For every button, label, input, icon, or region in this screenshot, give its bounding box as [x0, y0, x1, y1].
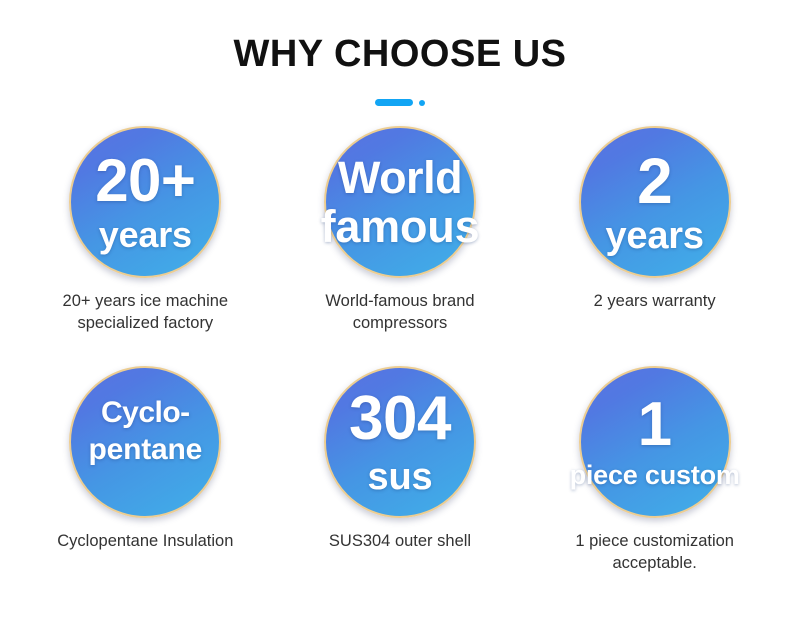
section-header: WHY CHOOSE US	[0, 0, 800, 108]
badge-line2: years	[38, 217, 253, 253]
feature-badge-2: World famous	[324, 126, 476, 278]
feature-item-4: Cyclo- pentane Cyclopentane Insulation	[18, 366, 273, 606]
feature-item-5: 304 sus SUS304 outer shell	[273, 366, 528, 606]
badge-text-1: 20+ years	[38, 151, 253, 253]
feature-item-3: 2 years 2 years warranty	[527, 126, 782, 366]
feature-badge-5: 304 sus	[324, 366, 476, 518]
badge-line1: 2	[547, 149, 762, 213]
page-title: WHY CHOOSE US	[0, 34, 800, 76]
feature-caption-2: World-famous brand compressors	[285, 290, 515, 335]
feature-badge-4: Cyclo- pentane	[69, 366, 221, 518]
feature-grid: 20+ years 20+ years ice machine speciali…	[0, 126, 800, 606]
badge-line2: piece custom	[547, 462, 762, 489]
feature-badge-3: 2 years	[579, 126, 731, 278]
badge-text-2: World famous	[292, 155, 507, 249]
feature-item-6: 1 piece custom 1 piece customization acc…	[527, 366, 782, 606]
badge-text-5: 304 sus	[292, 388, 507, 496]
feature-item-1: 20+ years 20+ years ice machine speciali…	[18, 126, 273, 366]
feature-caption-6: 1 piece customization acceptable.	[540, 530, 770, 575]
feature-item-2: World famous World-famous brand compress…	[273, 126, 528, 366]
feature-caption-4: Cyclopentane Insulation	[57, 530, 233, 552]
badge-line2: pentane	[38, 435, 253, 465]
badge-text-6: 1 piece custom	[547, 394, 762, 489]
divider-bar-icon	[375, 99, 413, 106]
feature-caption-3: 2 years warranty	[594, 290, 716, 312]
divider-dot-icon	[419, 100, 425, 106]
badge-line1: 1	[547, 394, 762, 456]
badge-line2: famous	[292, 204, 507, 249]
title-divider	[0, 98, 800, 108]
feature-badge-1: 20+ years	[69, 126, 221, 278]
feature-caption-1: 20+ years ice machine specialized factor…	[30, 290, 260, 335]
badge-text-3: 2 years	[547, 149, 762, 255]
badge-line2: sus	[292, 458, 507, 496]
badge-line2: years	[547, 217, 762, 255]
badge-line1: 20+	[38, 151, 253, 211]
badge-text-4: Cyclo- pentane	[38, 398, 253, 465]
badge-line1: 304	[292, 388, 507, 450]
feature-badge-6: 1 piece custom	[579, 366, 731, 518]
badge-line1: World	[292, 155, 507, 200]
why-choose-us-section: WHY CHOOSE US 20+ years 20+ years ice ma…	[0, 0, 800, 626]
badge-line1: Cyclo-	[38, 398, 253, 428]
feature-caption-5: SUS304 outer shell	[329, 530, 471, 552]
